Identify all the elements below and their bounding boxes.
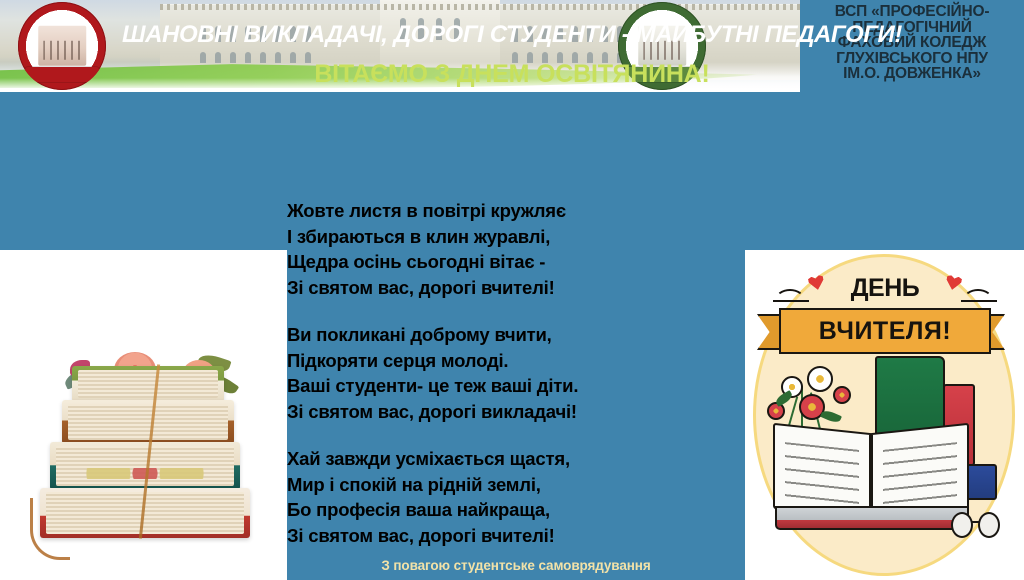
- poem-line: Жовте листя в повітрі кружляє: [287, 198, 745, 224]
- building-roofline: [160, 4, 800, 10]
- poem-line: Ваші студенти- це теж ваші діти.: [287, 373, 745, 399]
- right-illustration-panel: ДЕНЬ ВЧИТЕЛЯ!: [745, 250, 1024, 580]
- open-book-cover: [775, 506, 969, 530]
- open-book-left-page: [773, 423, 871, 519]
- poem-line: Підкоряти серця молоді.: [287, 348, 745, 374]
- greeting-headline: ШАНОВНІ ВИКЛАДАЧІ, ДОРОГІ СТУДЕНТИ - МАЙ…: [0, 20, 1024, 50]
- eyeglasses-icon: [951, 512, 1003, 538]
- flower-white: [807, 366, 833, 392]
- poem-line: Мир і спокій на рідній землі,: [287, 472, 745, 498]
- poem-line: І збираються в клин журавлі,: [287, 224, 745, 250]
- poem-stanza-1: Жовте листя в повітрі кружляє І збирають…: [287, 198, 745, 300]
- open-book-right-page: [871, 423, 969, 519]
- signature-line: З повагою студентське самоврядування: [287, 558, 745, 573]
- flower-red: [833, 386, 851, 404]
- institution-title-line-1: ВСП «ПРОФЕСІЙНО-: [804, 4, 1020, 20]
- badge-top-word: ДЕНЬ: [773, 274, 997, 302]
- poem-line: Зі святом вас, дорогі вчителі!: [287, 275, 745, 301]
- book-brown: [62, 400, 234, 444]
- badge-ribbon: ВЧИТЕЛЯ!: [779, 308, 991, 354]
- poem-line: Ви покликані доброму вчити,: [287, 322, 745, 348]
- poem-line: Бо професія ваша найкраща,: [287, 497, 745, 523]
- badge-ribbon-word: ВЧИТЕЛЯ!: [819, 317, 951, 346]
- greeting-subheadline: ВІТАЄМО З ДНЕМ ОСВІТЯНИНА!: [0, 59, 1024, 89]
- stack-of-books-with-flowers-illustration: [28, 338, 260, 550]
- poem-line: Щедра осінь сьогодні вітає -: [287, 249, 745, 275]
- poem-block: Жовте листя в повітрі кружляє І збирають…: [287, 198, 745, 548]
- flower-red: [767, 402, 785, 420]
- book-ribbon-tail: [30, 498, 70, 560]
- open-book: [773, 422, 971, 534]
- teachers-day-banner: ДЕНЬ ВЧИТЕЛЯ!: [773, 274, 997, 360]
- left-illustration-panel: [0, 250, 287, 580]
- greeting-card-page: ВСП «ПРОФЕСІЙНО- ПЕДАГОГІЧНИЙ ФАХОВИЙ КО…: [0, 0, 1024, 580]
- poem-stanza-3: Хай завжди усміхається щастя, Мир і спок…: [287, 446, 745, 548]
- books-and-flowers-illustration: [755, 360, 1013, 570]
- poem-stanza-2: Ви покликані доброму вчити, Підкоряти се…: [287, 322, 745, 424]
- poem-line: Зі святом вас, дорогі вчителі!: [287, 523, 745, 549]
- greeting-block: ШАНОВНІ ВИКЛАДАЧІ, ДОРОГІ СТУДЕНТИ - МАЙ…: [0, 20, 1024, 89]
- poem-line: Хай завжди усміхається щастя,: [287, 446, 745, 472]
- book-olive: [72, 366, 224, 402]
- poem-line: Зі святом вас, дорогі викладачі!: [287, 399, 745, 425]
